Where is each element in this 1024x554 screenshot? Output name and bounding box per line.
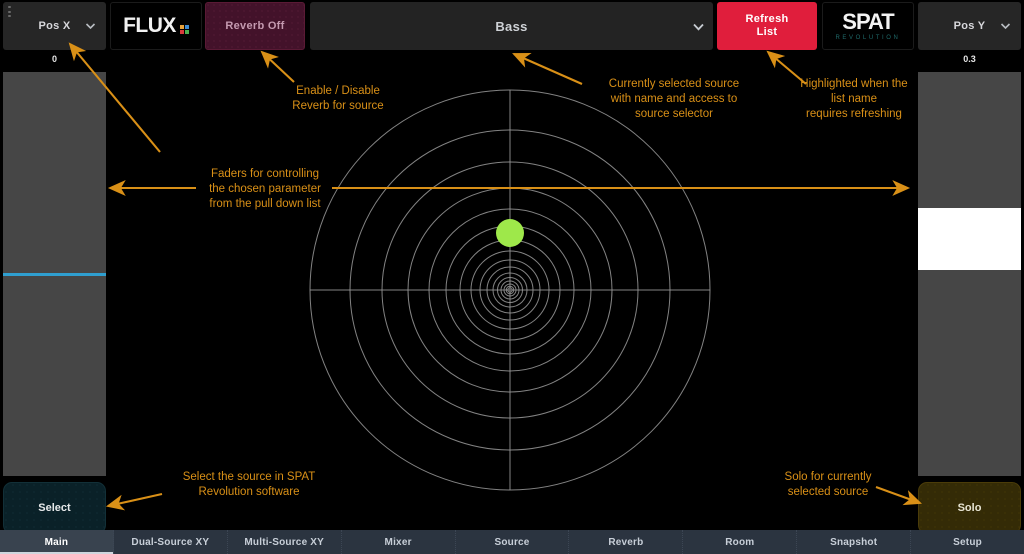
tab-main[interactable]: Main: [0, 530, 114, 554]
tab-mixer[interactable]: Mixer: [342, 530, 456, 554]
pos-y-parameter-selector[interactable]: Pos Y: [918, 2, 1021, 50]
refresh-list-button[interactable]: Refresh List: [717, 2, 817, 50]
spat-remote-app: Pos X FLUX Reverb Off Bass: [0, 0, 1024, 554]
pos-x-parameter-selector[interactable]: Pos X: [3, 2, 106, 50]
tab-reverb-label: Reverb: [608, 537, 643, 548]
tab-reverb[interactable]: Reverb: [569, 530, 683, 554]
spat-revolution-logo: SPAT REVOLUTION: [822, 2, 914, 50]
reverb-toggle-label: Reverb Off: [225, 20, 284, 32]
chevron-down-icon: [692, 21, 703, 32]
solo-button-label: Solo: [958, 502, 982, 514]
tab-source-label: Source: [494, 537, 529, 548]
select-source-button[interactable]: Select: [3, 482, 106, 534]
grip-dots-icon: [8, 6, 11, 17]
select-button-label: Select: [38, 502, 70, 514]
tab-room[interactable]: Room: [683, 530, 797, 554]
pos-x-fader-handle[interactable]: [3, 273, 106, 276]
chevron-down-icon: [1000, 21, 1011, 32]
pos-y-fader[interactable]: [918, 72, 1021, 476]
tab-source[interactable]: Source: [456, 530, 570, 554]
pos-y-value: 0.3: [918, 54, 1021, 64]
pos-y-fader-handle[interactable]: [918, 208, 1021, 270]
reverb-toggle-button[interactable]: Reverb Off: [205, 2, 305, 50]
solo-button[interactable]: Solo: [918, 482, 1021, 534]
pos-x-selector-label: Pos X: [38, 20, 70, 32]
polar-source-view[interactable]: [110, 52, 910, 522]
tab-snapshot[interactable]: Snapshot: [797, 530, 911, 554]
flux-logo: FLUX: [110, 2, 202, 50]
spat-logo-main: SPAT: [835, 11, 900, 33]
refresh-list-line1: Refresh: [745, 13, 788, 25]
tab-dual-source-xy-label: Dual-Source XY: [131, 537, 209, 548]
flux-logo-dots-icon: [180, 25, 189, 34]
pos-x-value: 0: [3, 54, 106, 64]
spat-logo-sub: REVOLUTION: [835, 35, 900, 41]
source-dot-bass: [496, 219, 524, 247]
tab-multi-source-xy-label: Multi-Source XY: [244, 537, 324, 548]
tab-mixer-label: Mixer: [385, 537, 412, 548]
tab-setup-label: Setup: [953, 537, 982, 548]
tab-dual-source-xy[interactable]: Dual-Source XY: [114, 530, 228, 554]
source-selector-label: Bass: [495, 19, 527, 34]
tab-setup[interactable]: Setup: [911, 530, 1024, 554]
bottom-tab-bar: Main Dual-Source XY Multi-Source XY Mixe…: [0, 530, 1024, 554]
tab-multi-source-xy[interactable]: Multi-Source XY: [228, 530, 342, 554]
tab-room-label: Room: [725, 537, 754, 548]
refresh-list-line2: List: [757, 26, 778, 38]
top-toolbar: Pos X FLUX Reverb Off Bass: [0, 0, 1024, 52]
flux-logo-text: FLUX: [123, 14, 176, 38]
chevron-down-icon: [85, 21, 96, 32]
pos-y-selector-label: Pos Y: [954, 20, 986, 32]
pos-x-fader[interactable]: [3, 72, 106, 476]
tab-main-label: Main: [45, 537, 69, 548]
source-selector[interactable]: Bass: [310, 2, 713, 50]
tab-snapshot-label: Snapshot: [830, 537, 877, 548]
